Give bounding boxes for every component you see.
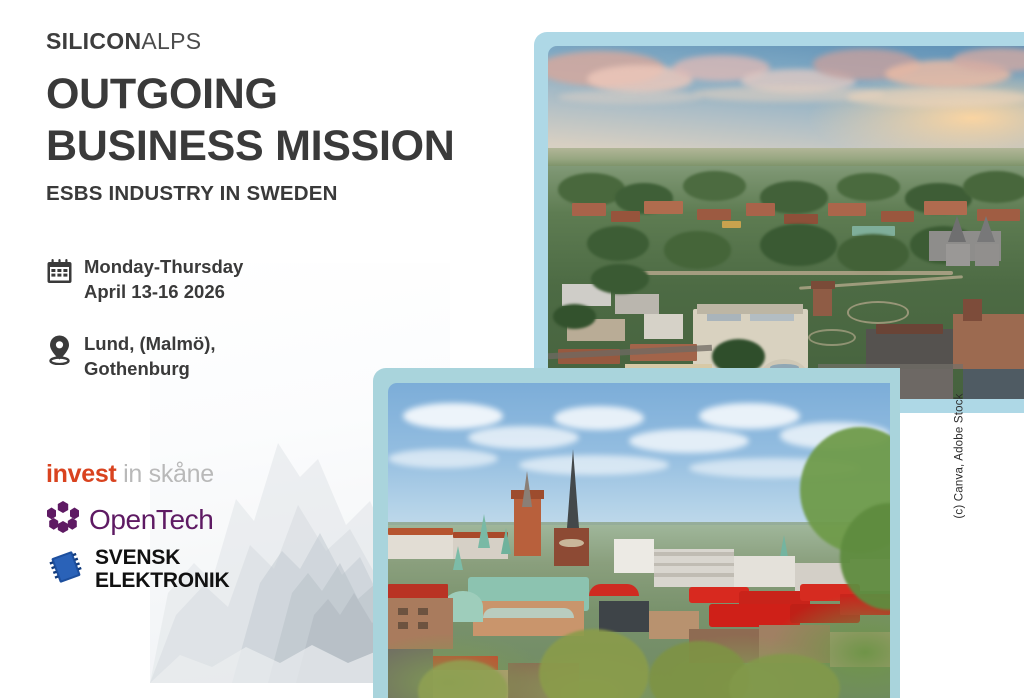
in-skane-word: in skåne [116, 460, 213, 488]
event-date-line-1: Monday-Thursday [84, 255, 243, 280]
svensk-elektronik-label: SVENSK ELEKTRONIK [95, 547, 230, 592]
photo-cityscape [548, 148, 1024, 399]
hexagon-cluster-icon [46, 500, 80, 539]
brand-strong: SILICON [46, 28, 141, 54]
svensk-elektronik-logo: SVENSK ELEKTRONIK [46, 547, 230, 592]
event-details: Monday-Thursday April 13-16 2026 Lund, (… [46, 255, 516, 382]
title-block: SILICONALPS OUTGOING BUSINESS MISSION ES… [46, 28, 516, 410]
event-date-line-2: April 13-16 2026 [84, 280, 243, 305]
event-location-row: Lund, (Malmö), Gothenburg [46, 332, 516, 382]
calendar-icon [46, 255, 84, 285]
event-location-text: Lund, (Malmö), Gothenburg [84, 332, 216, 382]
svensk-line-1: SVENSK [95, 547, 230, 570]
lund-aerial-photo-frame [534, 32, 1024, 413]
siliconalps-logo: SILICONALPS [46, 28, 516, 55]
brand-light: ALPS [141, 28, 201, 54]
event-location-line-1: Lund, (Malmö), [84, 332, 216, 357]
opentech-label: OpenTech [89, 506, 213, 534]
microchip-icon [46, 547, 86, 592]
partner-logos: invest in skåne OpenTech [46, 462, 230, 592]
gothenburg-cityscape-photo-frame [373, 368, 900, 698]
headline-line-1: OUTGOING [46, 68, 516, 120]
event-date-text: Monday-Thursday April 13-16 2026 [84, 255, 243, 305]
location-pin-icon [46, 332, 84, 365]
svensk-line-2: ELEKTRONIK [95, 570, 230, 593]
invest-in-skane-logo: invest in skåne [46, 462, 230, 487]
event-date-row: Monday-Thursday April 13-16 2026 [46, 255, 516, 305]
headline-line-2: BUSINESS MISSION [46, 120, 516, 172]
lund-aerial-photo [548, 46, 1024, 399]
subheading: ESBS INDUSTRY IN SWEDEN [46, 182, 516, 206]
page-title: OUTGOING BUSINESS MISSION [46, 68, 516, 173]
opentech-logo: OpenTech [46, 500, 230, 539]
photo-sky [548, 46, 1024, 162]
invest-word: invest [46, 460, 116, 488]
gothenburg-cityscape-photo [388, 383, 890, 698]
event-location-line-2: Gothenburg [84, 357, 216, 382]
photo-credit: (c) Canva, Adobe Stock [953, 393, 965, 518]
